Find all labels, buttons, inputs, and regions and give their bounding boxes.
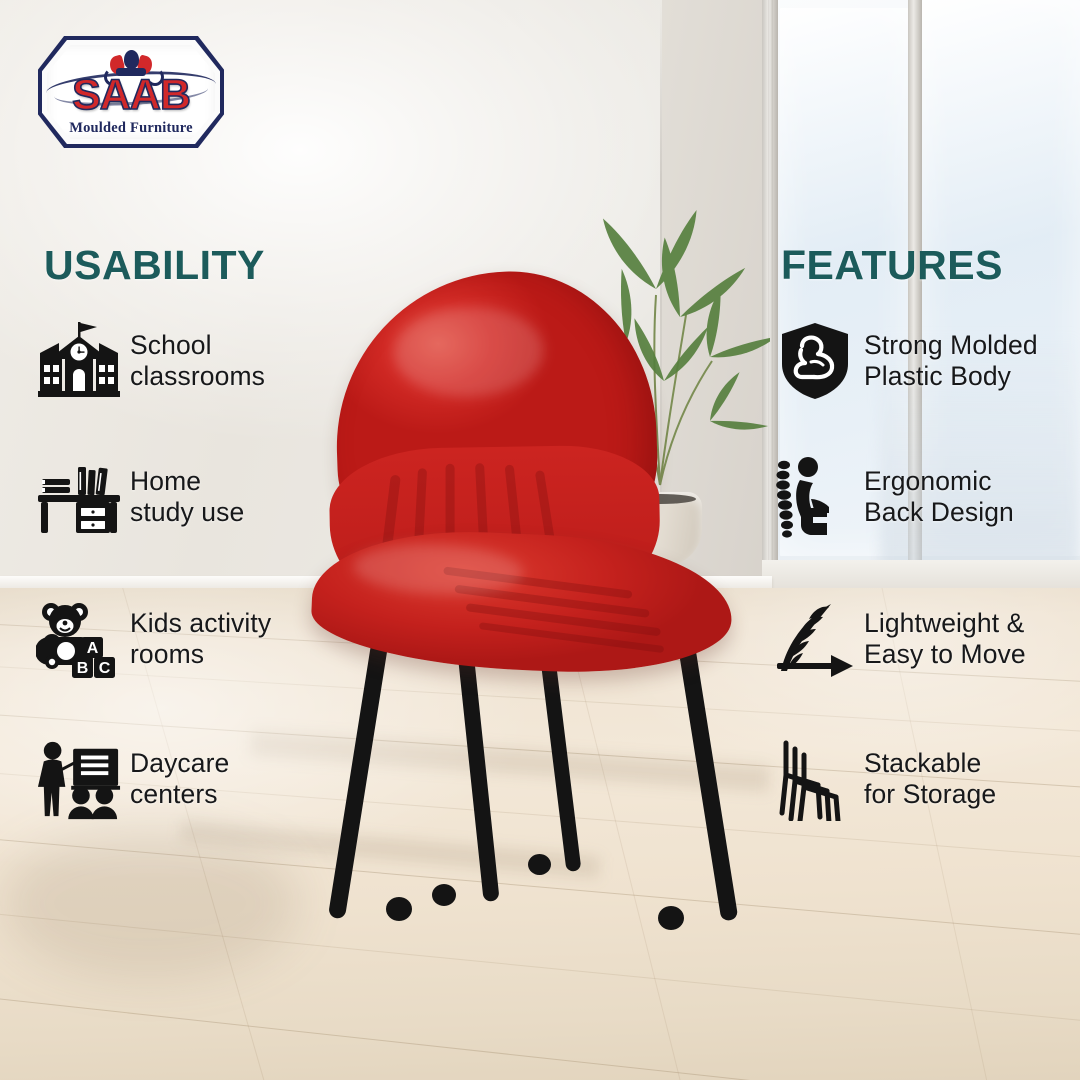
features-item-label: Ergonomic Back Design <box>864 466 1014 527</box>
chair-foot-cap-front-right <box>658 906 684 930</box>
usability-item-label: School classrooms <box>130 330 265 391</box>
shield-muscle-icon <box>772 318 858 404</box>
features-item-line1: Stackable <box>864 748 996 779</box>
usability-item-line1: Daycare <box>130 748 229 779</box>
usability-item-school-classrooms: School classrooms <box>36 318 265 404</box>
features-item-label: Lightweight & Easy to Move <box>864 608 1026 669</box>
features-item-strong-molded-plastic-body: Strong Molded Plastic Body <box>772 318 1038 404</box>
features-item-stackable-for-storage: Stackable for Storage <box>772 736 996 822</box>
ergonomic-spine-sitting-icon <box>772 454 858 540</box>
usability-heading: USABILITY <box>44 245 265 286</box>
feather-arrow-icon <box>772 596 858 682</box>
svg-text:A: A <box>87 640 99 657</box>
features-item-line2: for Storage <box>864 779 996 810</box>
usability-item-line1: Home <box>130 466 244 497</box>
features-item-ergonomic-back-design: Ergonomic Back Design <box>772 454 1014 540</box>
usability-item-line2: study use <box>130 497 244 528</box>
features-item-line1: Strong Molded <box>864 330 1038 361</box>
features-item-line1: Lightweight & <box>864 608 1026 639</box>
features-item-line2: Back Design <box>864 497 1014 528</box>
usability-item-label: Kids activity rooms <box>130 608 271 669</box>
chair-foot-cap-back-right <box>528 854 551 875</box>
features-item-line2: Plastic Body <box>864 361 1038 392</box>
molded-plastic-chair <box>300 272 770 962</box>
usability-item-daycare-centers: Daycare centers <box>36 736 229 822</box>
chair-leg-front-left <box>328 611 393 920</box>
chair-leg-front-right <box>675 623 739 922</box>
teacher-students-icon <box>36 736 122 822</box>
school-building-icon <box>36 318 122 404</box>
usability-item-line1: School <box>130 330 265 361</box>
features-item-label: Stackable for Storage <box>864 748 996 809</box>
features-heading: FEATURES <box>781 245 1003 286</box>
study-desk-icon <box>36 454 122 540</box>
chair-foot-cap-back-left <box>432 884 456 906</box>
usability-item-line1: Kids activity <box>130 608 271 639</box>
teddy-bear-blocks-icon: A B C <box>36 596 122 682</box>
usability-item-line2: centers <box>130 779 229 810</box>
stacked-chairs-icon <box>772 736 858 822</box>
chair-leg-back-right <box>540 650 582 872</box>
usability-item-label: Home study use <box>130 466 244 527</box>
usability-item-label: Daycare centers <box>130 748 229 809</box>
usability-item-kids-activity: A B C Kids activity rooms <box>36 596 271 682</box>
features-item-lightweight-easy-to-move: Lightweight & Easy to Move <box>772 596 1026 682</box>
product-infographic: SAAB Moulded Furniture USABILITY <box>0 0 1080 1080</box>
usability-item-line2: rooms <box>130 639 271 670</box>
svg-text:C: C <box>99 660 111 677</box>
features-item-line1: Ergonomic <box>864 466 1014 497</box>
features-item-line2: Easy to Move <box>864 639 1026 670</box>
usability-item-home-study: Home study use <box>36 454 244 540</box>
usability-item-line2: classrooms <box>130 361 265 392</box>
logo-tagline: Moulded Furniture <box>38 120 224 137</box>
logo-wordmark: SAAB <box>38 74 224 117</box>
features-item-label: Strong Molded Plastic Body <box>864 330 1038 391</box>
svg-text:B: B <box>77 660 89 677</box>
saab-logo: SAAB Moulded Furniture <box>38 36 224 148</box>
chair-foot-cap-front-left <box>386 897 412 921</box>
